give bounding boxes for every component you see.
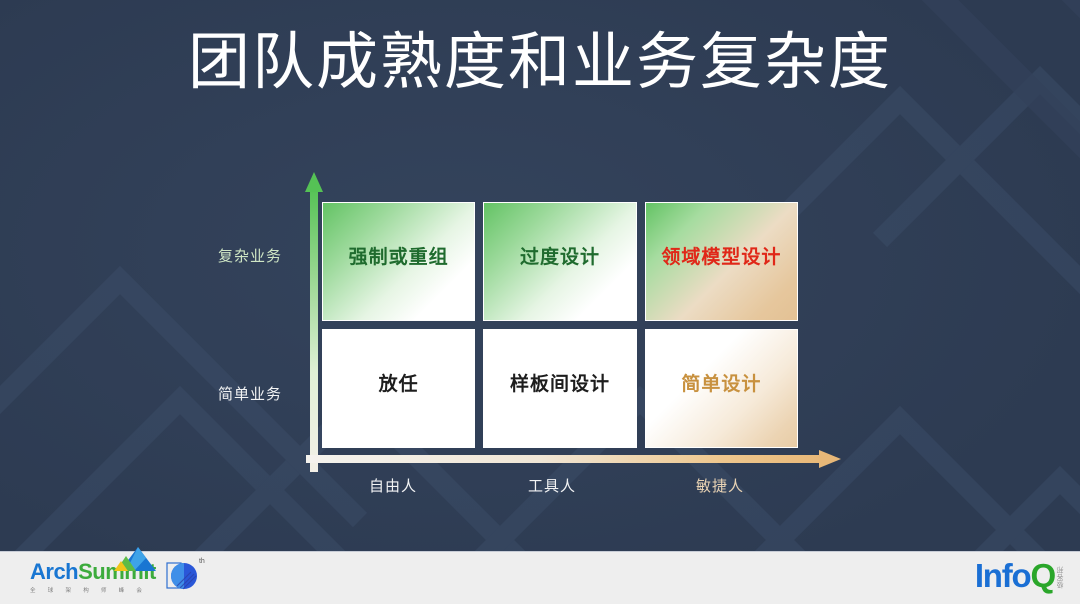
y-axis-tick-simple: 简单业务 — [218, 383, 304, 404]
archsummit-subtitle-char: 全 — [30, 586, 36, 594]
matrix-cell-label: 样板间设计 — [510, 369, 610, 396]
matrix-cell-label: 放任 — [379, 369, 419, 396]
slide-root: 团队成熟度和业务复杂度 — [0, 0, 1080, 604]
y-axis-arrow — [305, 172, 323, 462]
x-axis-arrow — [306, 450, 831, 468]
anniversary-badge-superscript: th — [199, 558, 205, 565]
archsummit-arch-text: Arch — [30, 559, 78, 584]
footer-bar: ArchSummit 全 球 架 构 师 — [0, 551, 1080, 604]
archsummit-logo: ArchSummit 全 球 架 构 师 — [30, 557, 202, 595]
anniversary-badge-icon: th — [164, 557, 202, 595]
x-axis-tick-agile: 敏捷人 — [645, 475, 795, 496]
archsummit-subtitle-char: 球 — [48, 586, 54, 594]
x-axis-tick-toolman: 工具人 — [477, 475, 627, 496]
archsummit-subtitle-char: 会 — [136, 586, 142, 594]
infoq-q-text: Q — [1031, 558, 1055, 594]
archsummit-subtitle-char: 架 — [65, 586, 71, 594]
infoq-subtitle: 极客邦 — [1056, 566, 1066, 589]
matrix-cell-label: 简单设计 — [681, 369, 761, 396]
x-axis-tick-freelancer: 自由人 — [318, 475, 468, 496]
matrix-cell-r0c0[interactable]: 强制或重组 — [322, 202, 475, 321]
matrix-grid: 强制或重组 过度设计 领域模型设计 放任 样板间设计 简单设计 — [322, 202, 798, 448]
mountain-icon — [112, 547, 158, 571]
archsummit-subtitle-char: 构 — [83, 586, 89, 594]
archsummit-wordmark: ArchSummit 全 球 架 构 师 — [30, 559, 156, 594]
maturity-complexity-matrix: 复杂业务 简单业务 自由人 工具人 敏捷人 强制或重组 过度设计 领域模型设计 … — [0, 150, 1080, 510]
matrix-cell-r1c0[interactable]: 放任 — [322, 329, 475, 448]
y-axis-tick-complex: 复杂业务 — [218, 245, 304, 266]
page-title: 团队成熟度和业务复杂度 — [0, 28, 1080, 97]
archsummit-subtitle-char: 峰 — [119, 586, 125, 594]
matrix-cell-r1c2[interactable]: 简单设计 — [645, 329, 798, 448]
infoq-info-text: Info — [975, 558, 1031, 594]
matrix-cell-label: 过度设计 — [520, 242, 600, 269]
matrix-cell-r1c1[interactable]: 样板间设计 — [483, 329, 636, 448]
matrix-cell-label: 领域模型设计 — [661, 242, 781, 269]
matrix-cell-r0c1[interactable]: 过度设计 — [483, 202, 636, 321]
infoq-logo: InfoQ 极客邦 — [975, 558, 1066, 594]
matrix-cell-label: 强制或重组 — [349, 242, 449, 269]
archsummit-subtitle: 全 球 架 构 师 峰 会 — [30, 586, 142, 594]
matrix-cell-r0c2[interactable]: 领域模型设计 — [645, 202, 798, 321]
archsummit-subtitle-char: 师 — [101, 586, 107, 594]
